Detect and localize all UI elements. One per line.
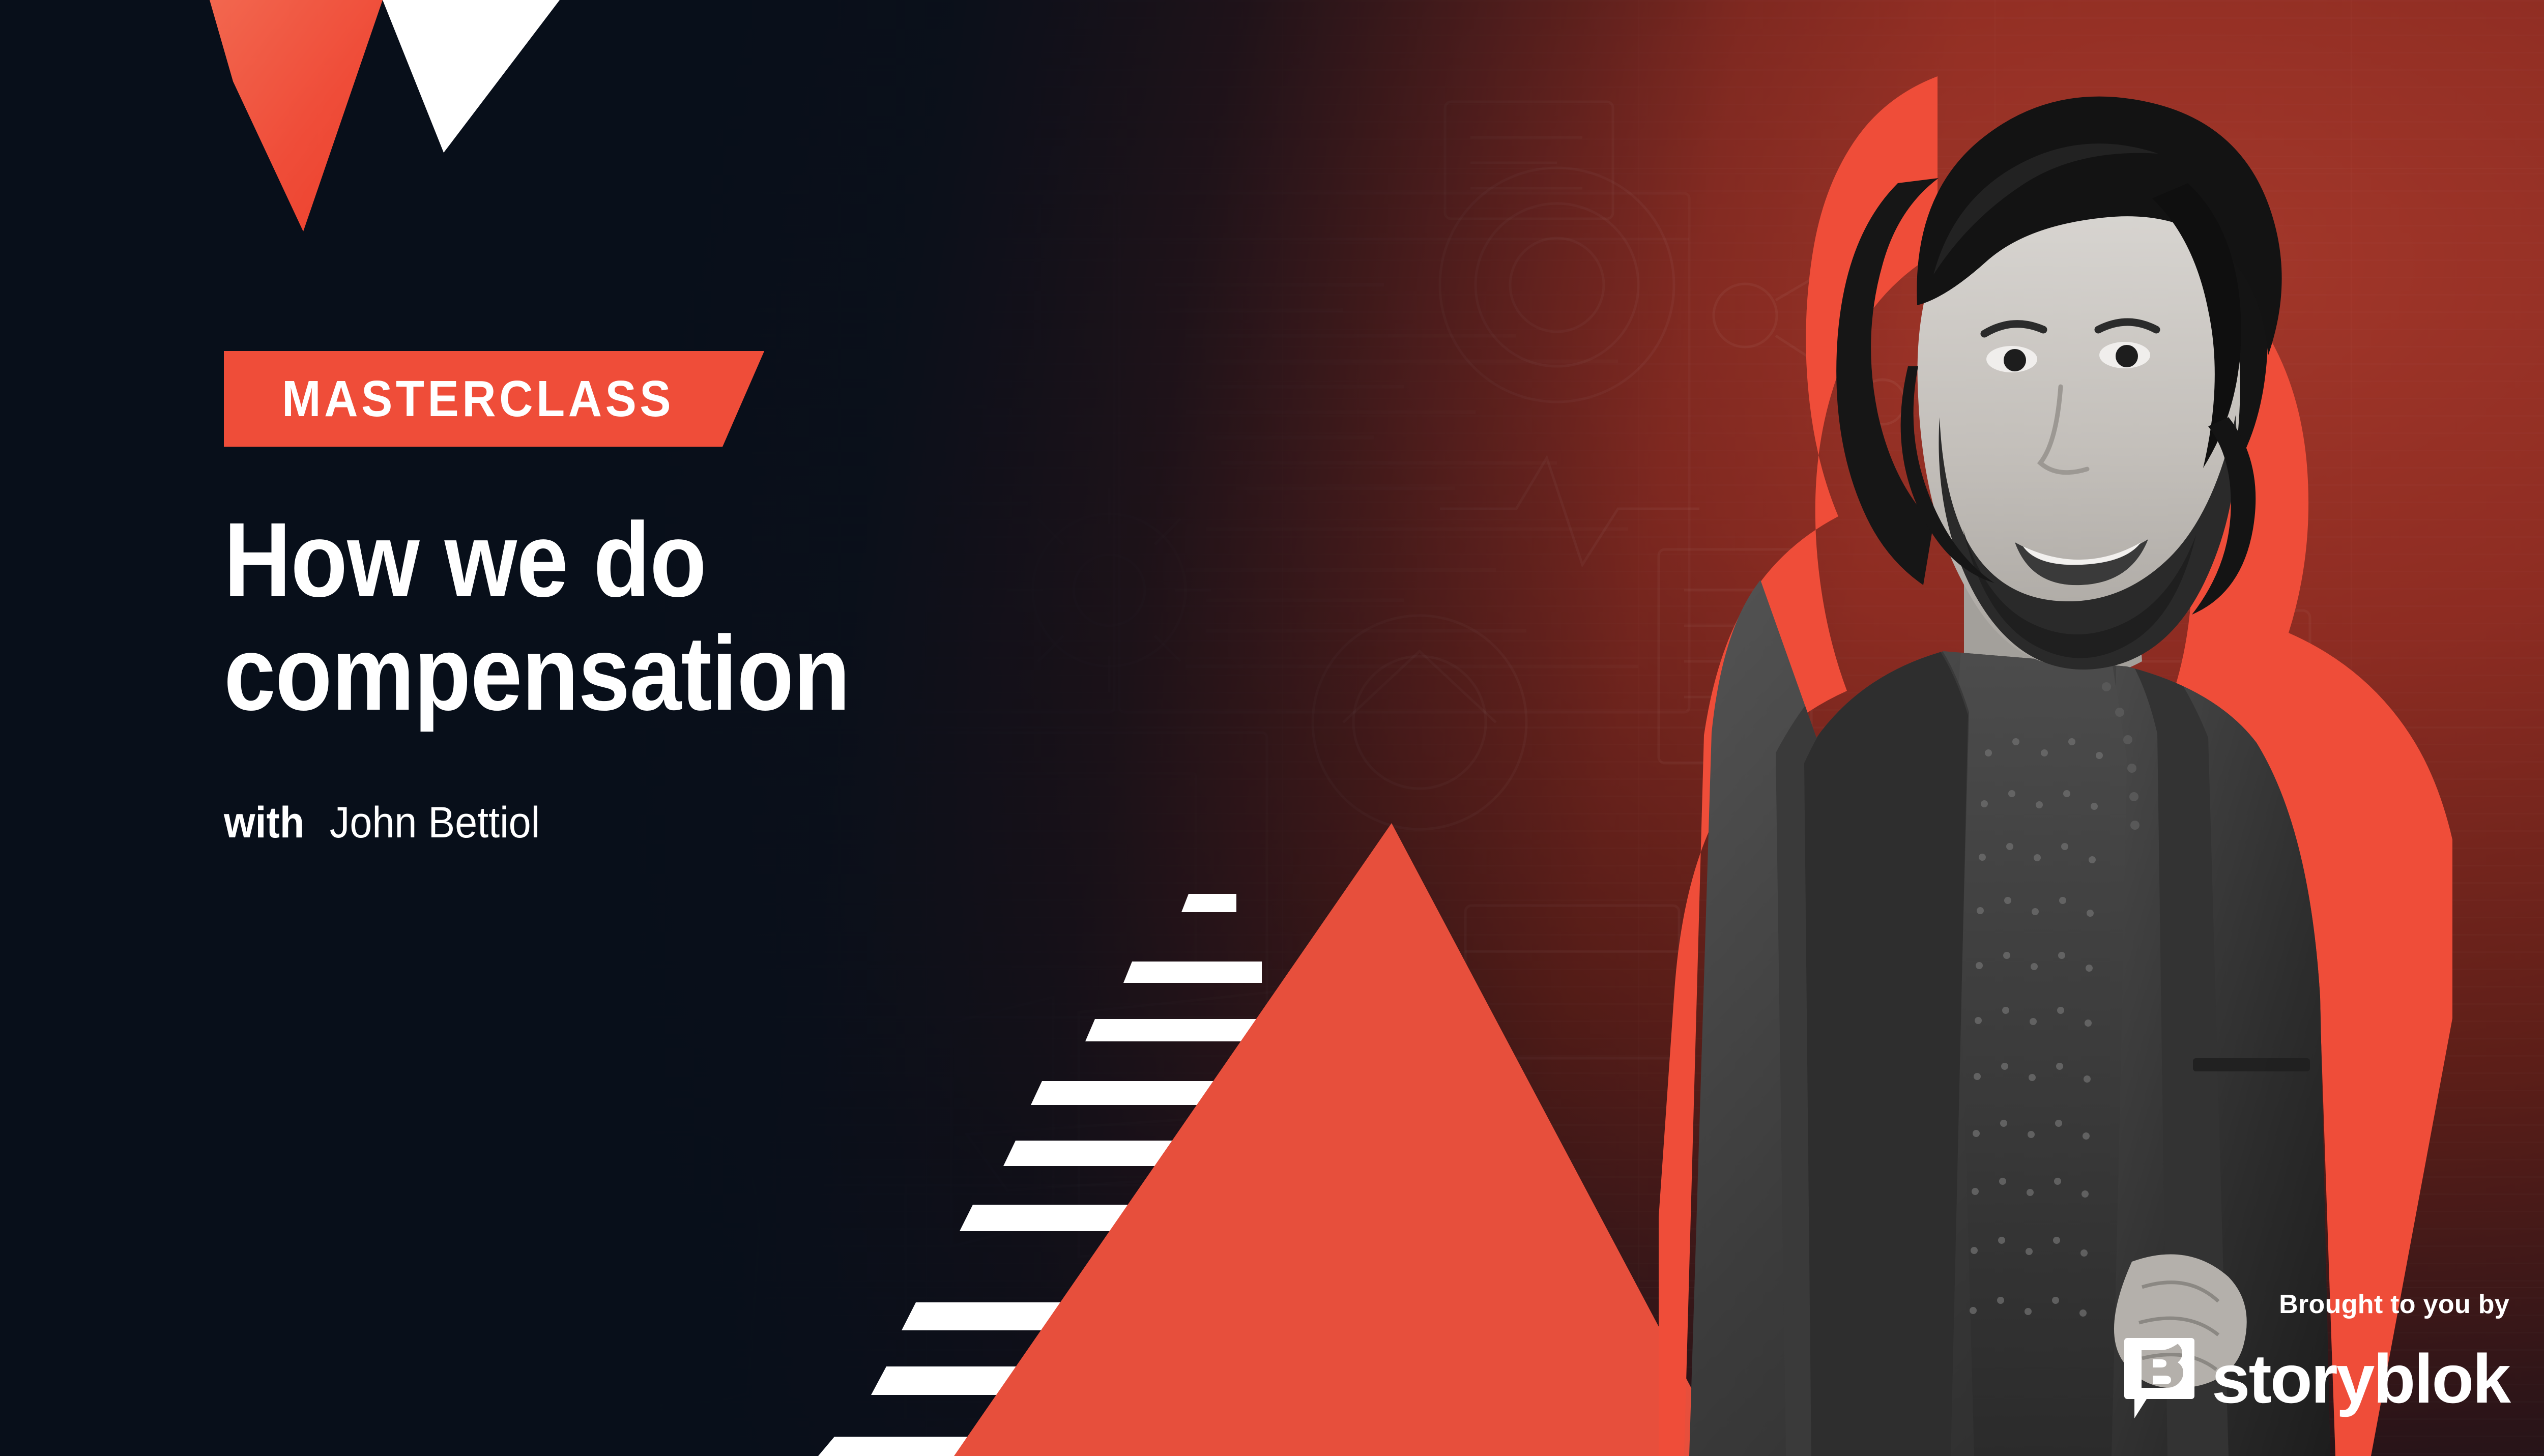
page-title: How we do compensation — [224, 504, 1254, 730]
presenter-name: John Bettiol — [330, 798, 540, 847]
masterclass-badge: MASTERCLASS — [224, 351, 764, 447]
banner-content: MASTERCLASS How we do compensation with … — [224, 351, 1394, 845]
presenter-line: with John Bettiol — [224, 801, 1300, 845]
brought-to-you-by-label: Brought to you by — [2124, 1291, 2509, 1318]
brand-attribution: Brought to you by storyblok — [2124, 1291, 2509, 1419]
presenter-with-label: with — [224, 798, 304, 847]
page-title-line-1: How we do — [224, 504, 1254, 617]
masterclass-banner: MASTERCLASS How we do compensation with … — [0, 0, 2544, 1456]
masterclass-badge-label: MASTERCLASS — [282, 373, 674, 424]
page-title-line-2: compensation — [224, 617, 1254, 731]
chevron-wedge-icon — [204, 0, 570, 239]
storyblok-logo-lockup: storyblok — [2124, 1338, 2509, 1419]
speaker-portrait — [1659, 31, 2452, 1456]
storyblok-wordmark: storyblok — [2212, 1344, 2509, 1413]
storyblok-speech-bubble-icon — [2124, 1338, 2194, 1419]
